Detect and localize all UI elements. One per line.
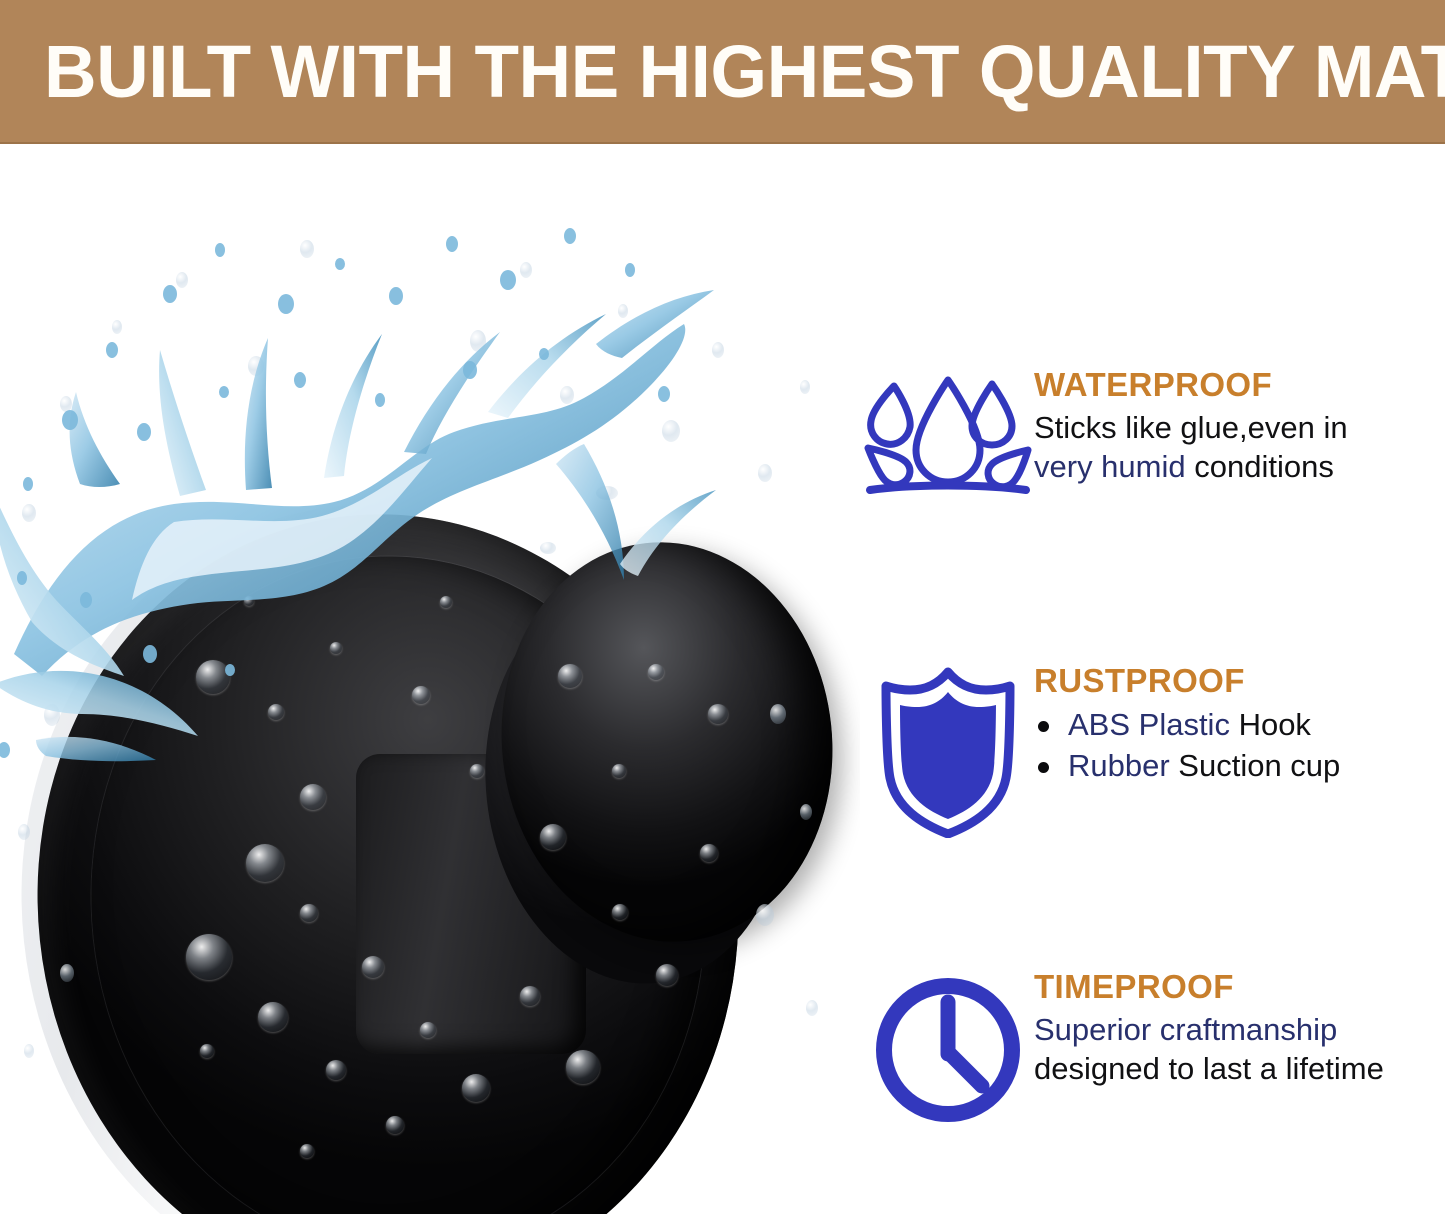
water-droplet [300, 904, 318, 922]
water-droplet [700, 844, 718, 862]
water-droplet [268, 704, 284, 720]
water-droplet [540, 824, 566, 850]
airborne-droplet [662, 420, 680, 442]
airborne-droplet [618, 304, 628, 318]
airborne-droplet [800, 804, 812, 820]
feature-text-navy: Superior craftmanship [1034, 1012, 1337, 1047]
bullet-dot-icon [1038, 721, 1049, 732]
shield-icon [862, 662, 1034, 838]
feature-waterproof: WATERPROOF Sticks like glue,even in very… [862, 366, 1445, 496]
water-droplet [440, 596, 452, 608]
water-droplet [330, 642, 342, 654]
feature-timeproof: TIMEPROOF Superior craftmanship designed… [862, 968, 1445, 1128]
water-droplet [648, 664, 664, 680]
airborne-droplet [18, 824, 30, 840]
airborne-droplet [770, 704, 786, 724]
airborne-droplet [22, 504, 36, 522]
airborne-droplet [800, 380, 810, 394]
airborne-droplet [60, 964, 74, 982]
water-drops-icon [862, 366, 1034, 496]
feature-title: TIMEPROOF [1034, 968, 1445, 1006]
water-droplet [656, 964, 678, 986]
feature-description-line: Sticks like glue,even in [1034, 408, 1445, 447]
feature-text-black: Hook [1239, 707, 1311, 742]
water-droplet [558, 664, 582, 688]
airborne-droplet [806, 1000, 818, 1016]
water-droplet [196, 660, 230, 694]
water-droplet [326, 1060, 346, 1080]
feature-list: WATERPROOF Sticks like glue,even in very… [862, 144, 1445, 1214]
feature-text-black: conditions [1194, 449, 1334, 484]
feature-rustproof-body: RUSTPROOF ABS Plastic Hook Rubber Suctio… [1034, 662, 1445, 786]
airborne-droplet [712, 342, 724, 358]
airborne-droplet [44, 704, 60, 726]
airborne-droplet [596, 486, 618, 500]
water-droplet [420, 1022, 436, 1038]
airborne-droplet [540, 542, 556, 554]
product-photo [0, 144, 860, 1214]
water-droplet [612, 764, 626, 778]
water-droplet [258, 1002, 288, 1032]
water-droplet [200, 1044, 214, 1058]
page-title: BUILT WITH THE HIGHEST QUALITY MATERIALS [44, 28, 1445, 116]
feature-timeproof-body: TIMEPROOF Superior craftmanship designed… [1034, 968, 1445, 1088]
feature-title: WATERPROOF [1034, 366, 1445, 404]
water-droplet [412, 686, 430, 704]
airborne-droplet [176, 272, 188, 288]
clock-icon [862, 968, 1034, 1128]
list-item: Rubber Suction cup [1034, 745, 1445, 786]
feature-text-black: Suction cup [1178, 748, 1340, 783]
feature-title: RUSTPROOF [1034, 662, 1445, 700]
water-droplet [300, 1144, 314, 1158]
airborne-droplet [300, 240, 314, 258]
airborne-droplet [24, 1044, 34, 1058]
feature-description-line: very humid conditions [1034, 447, 1445, 486]
list-item: ABS Plastic Hook [1034, 704, 1445, 745]
water-droplet [462, 1074, 490, 1102]
water-droplet [470, 764, 484, 778]
feature-text-navy: very humid [1034, 449, 1194, 484]
water-droplet [362, 956, 384, 978]
feature-text-black: designed to last a lifetime [1034, 1051, 1384, 1086]
feature-waterproof-body: WATERPROOF Sticks like glue,even in very… [1034, 366, 1445, 486]
water-droplet [520, 986, 540, 1006]
water-droplet [300, 784, 326, 810]
airborne-droplet [520, 262, 532, 278]
feature-text-navy: Rubber [1068, 748, 1178, 783]
airborne-droplet [560, 386, 574, 404]
airborne-droplet [112, 320, 122, 334]
airborne-droplet [60, 396, 72, 412]
header-banner: BUILT WITH THE HIGHEST QUALITY MATERIALS [0, 0, 1445, 144]
feature-text-black: Sticks like glue,even in [1034, 410, 1348, 445]
bullet-dot-icon [1038, 762, 1049, 773]
water-droplet [246, 844, 284, 882]
airborne-droplet [248, 356, 264, 376]
airborne-droplet [758, 464, 772, 482]
feature-description-line: Superior craftmanship [1034, 1010, 1445, 1049]
feature-description-line: designed to last a lifetime [1034, 1049, 1445, 1088]
airborne-droplet [150, 564, 168, 576]
water-droplet [186, 934, 232, 980]
feature-rustproof: RUSTPROOF ABS Plastic Hook Rubber Suctio… [862, 662, 1445, 838]
water-droplet [386, 1116, 404, 1134]
water-droplet [244, 596, 254, 606]
airborne-droplet [756, 904, 774, 926]
feature-text-navy: ABS Plastic [1068, 707, 1239, 742]
water-droplet [612, 904, 628, 920]
water-droplet [708, 704, 728, 724]
water-droplet [566, 1050, 600, 1084]
feature-bullet-list: ABS Plastic Hook Rubber Suction cup [1034, 704, 1445, 786]
airborne-droplet [470, 330, 486, 352]
